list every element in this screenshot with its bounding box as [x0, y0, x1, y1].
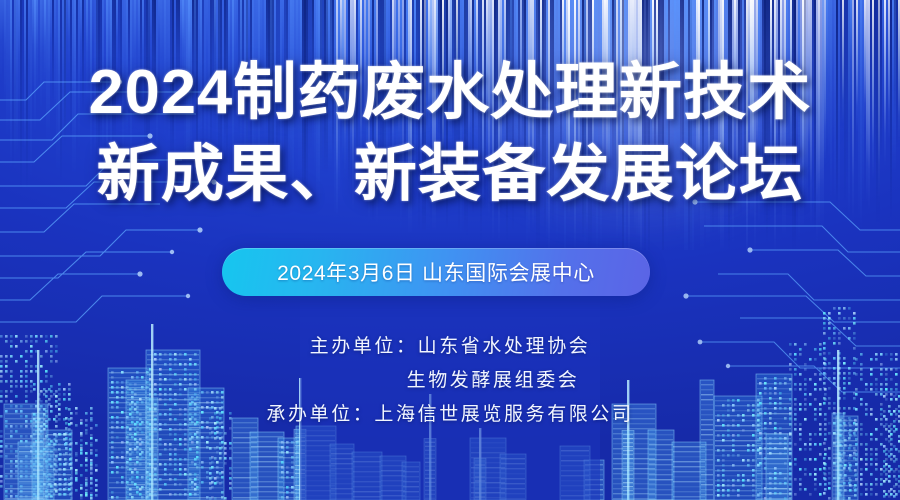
date-venue-label: 2024年3月6日 山东国际会展中心 [277, 257, 595, 287]
organizer-line-organiser: 承办单位：上海信世展览服务有限公司 [0, 398, 900, 432]
page-title: 2024制药废水处理新技术 新成果、新装备发展论坛 [0, 52, 900, 216]
title-line-2: 新成果、新装备发展论坛 [0, 134, 900, 216]
date-venue-badge[interactable]: 2024年3月6日 山东国际会展中心 [222, 248, 650, 296]
organizer-line-host: 主办单位：山东省水处理协会 [0, 330, 900, 364]
organizer-line-co-host: 生物发酵展组委会 [0, 364, 900, 398]
organizer-block: 主办单位：山东省水处理协会 生物发酵展组委会 承办单位：上海信世展览服务有限公司 [0, 330, 900, 432]
title-line-1: 2024制药废水处理新技术 [0, 52, 900, 134]
event-banner: 2024制药废水处理新技术 新成果、新装备发展论坛 2024年3月6日 山东国际… [0, 0, 900, 500]
